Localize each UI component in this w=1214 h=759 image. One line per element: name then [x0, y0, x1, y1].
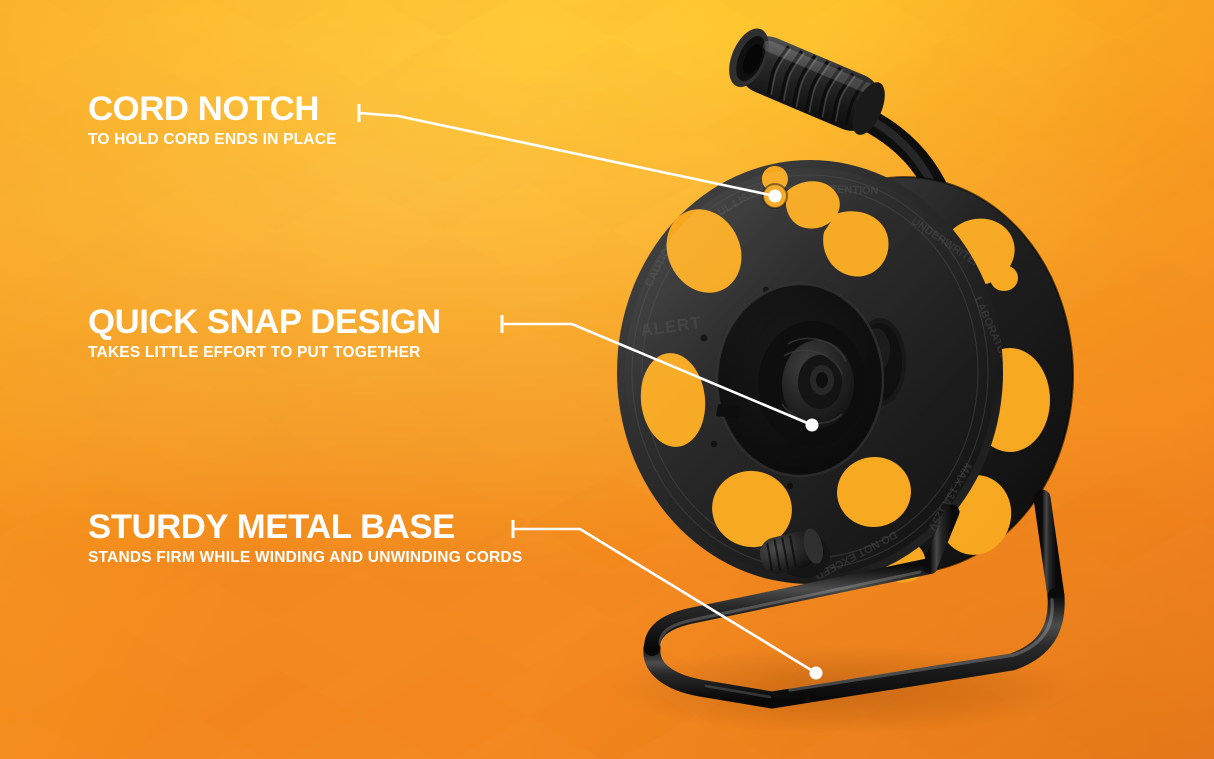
- callout-cord-notch: CORD NOTCH TO HOLD CORD ENDS IN PLACE: [88, 92, 337, 148]
- handle-grip-group: [721, 23, 893, 143]
- callout-quick-snap-design: QUICK SNAP DESIGN TAKES LITTLE EFFORT TO…: [88, 305, 434, 361]
- callout-title: QUICK SNAP DESIGN: [88, 305, 441, 339]
- callout-subtitle: TO HOLD CORD ENDS IN PLACE: [88, 131, 337, 148]
- callout-sturdy-metal-base: STURDY METAL BASE STANDS FIRM WHILE WIND…: [88, 510, 522, 566]
- callout-title: STURDY METAL BASE: [88, 510, 531, 544]
- product-infographic: CAUTION UL LISTED ATTENTION UNDERWRITERS…: [0, 0, 1214, 759]
- callout-title: CORD NOTCH: [88, 92, 342, 126]
- callout-subtitle: TAKES LITTLE EFFORT TO PUT TOGETHER: [88, 344, 434, 361]
- callout-subtitle: STANDS FIRM WHILE WINDING AND UNWINDING …: [88, 549, 522, 566]
